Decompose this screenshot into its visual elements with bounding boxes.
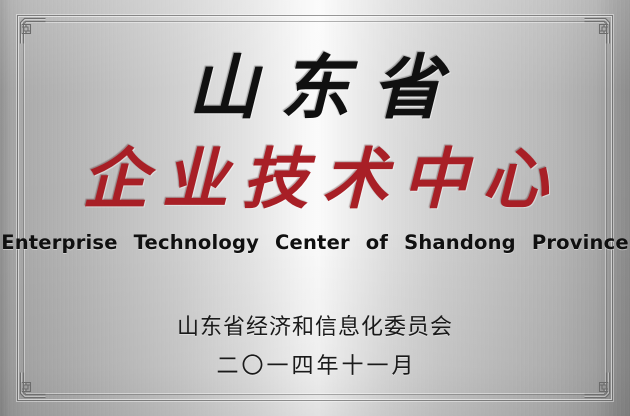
plaque-subtitle-chinese: 企业技术中心 <box>0 140 630 218</box>
award-plaque: 山东省 企业技术中心 Enterprise Technology Center … <box>0 0 630 416</box>
issuing-organization: 山东省经济和信息化委员会 <box>0 314 630 342</box>
plaque-title-chinese: 山东省 <box>0 47 630 129</box>
plaque-subtitle-english: Enterprise Technology Center of Shandong… <box>0 231 630 255</box>
issue-date: 二〇一四年十一月 <box>0 353 630 381</box>
plaque-content: 山东省 企业技术中心 Enterprise Technology Center … <box>0 0 630 416</box>
